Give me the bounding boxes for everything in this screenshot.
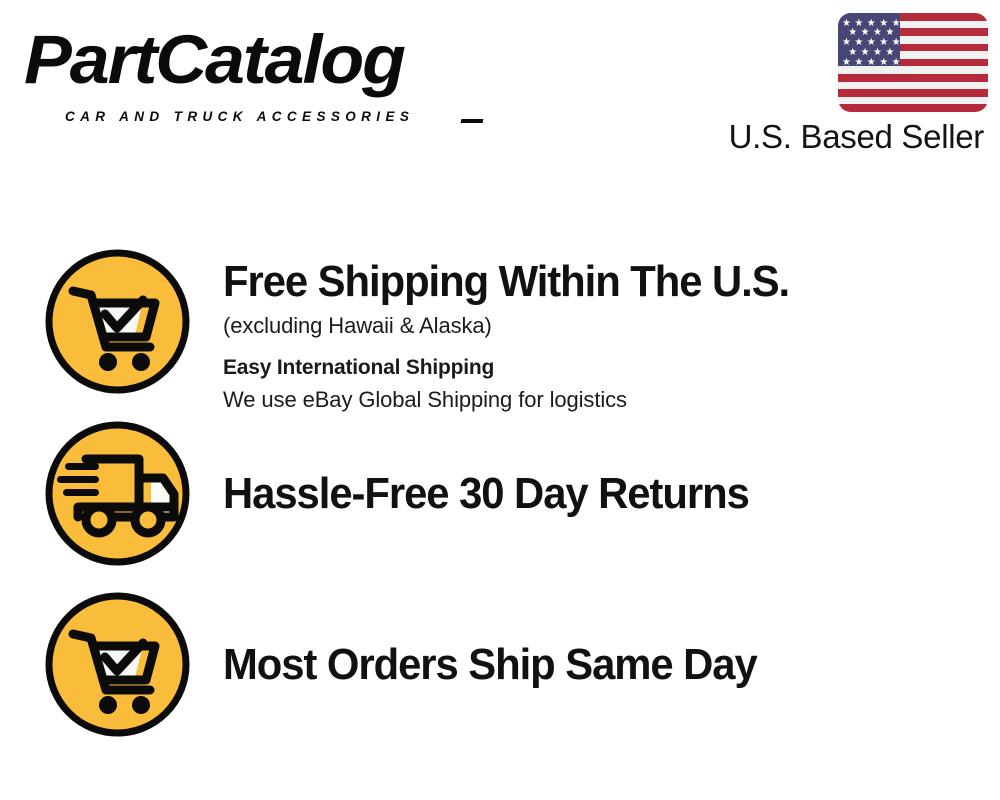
feature-row: Free Shipping Within The U.S. (excluding…: [0, 249, 1000, 399]
brand-wordmark: PartCatalog: [24, 22, 404, 98]
flag-canton: ★★★★★★★★★★★★★★★★★★★★★★★: [838, 13, 900, 66]
flag-stripe: [838, 74, 988, 82]
brand-tagline-row: CAR AND TRUCK ACCESSORIES: [65, 108, 495, 128]
feature-title: Free Shipping Within The U.S.: [223, 257, 926, 307]
feature-subtitle: (excluding Hawaii & Alaska): [223, 310, 963, 341]
flag-stripe: [838, 104, 988, 112]
flag-star-icon: ★: [879, 58, 888, 68]
flag-star-icon: ★: [867, 58, 876, 68]
brand-logo: PartCatalog CAR AND TRUCK ACCESSORIES: [24, 22, 494, 122]
feature-row: Most Orders Ship Same Day: [0, 592, 1000, 742]
flag-star-icon: ★: [842, 58, 851, 68]
shopping-cart-check-icon: [45, 592, 190, 737]
us-flag-icon: ★★★★★★★★★★★★★★★★★★★★★★★: [838, 13, 988, 112]
flag-stripe: [838, 89, 988, 97]
delivery-truck-icon: [45, 421, 190, 566]
shopping-cart-check-icon: [45, 249, 190, 394]
brand-tagline: CAR AND TRUCK ACCESSORIES: [65, 108, 414, 126]
feature-text-block: Hassle-Free 30 Day Returns: [223, 421, 963, 566]
feature-text-block: Free Shipping Within The U.S. (excluding…: [223, 249, 963, 415]
flag-star-icon: ★: [854, 58, 863, 68]
feature-title: Most Orders Ship Same Day: [223, 640, 926, 690]
flag-stripe: [838, 97, 988, 105]
feature-row: Hassle-Free 30 Day Returns: [0, 421, 1000, 571]
seller-location-label: U.S. Based Seller: [729, 117, 984, 157]
feature-subtitle: Easy International Shipping: [223, 352, 963, 383]
tagline-rule-icon: [461, 119, 484, 123]
feature-text-block: Most Orders Ship Same Day: [223, 592, 963, 737]
feature-title: Hassle-Free 30 Day Returns: [223, 469, 926, 519]
header-banner: PartCatalog CAR AND TRUCK ACCESSORIES ★★…: [0, 0, 1000, 175]
feature-subtitle: We use eBay Global Shipping for logistic…: [223, 384, 963, 415]
flag-stripe: [838, 82, 988, 90]
flag-star-icon: ★: [892, 58, 901, 68]
